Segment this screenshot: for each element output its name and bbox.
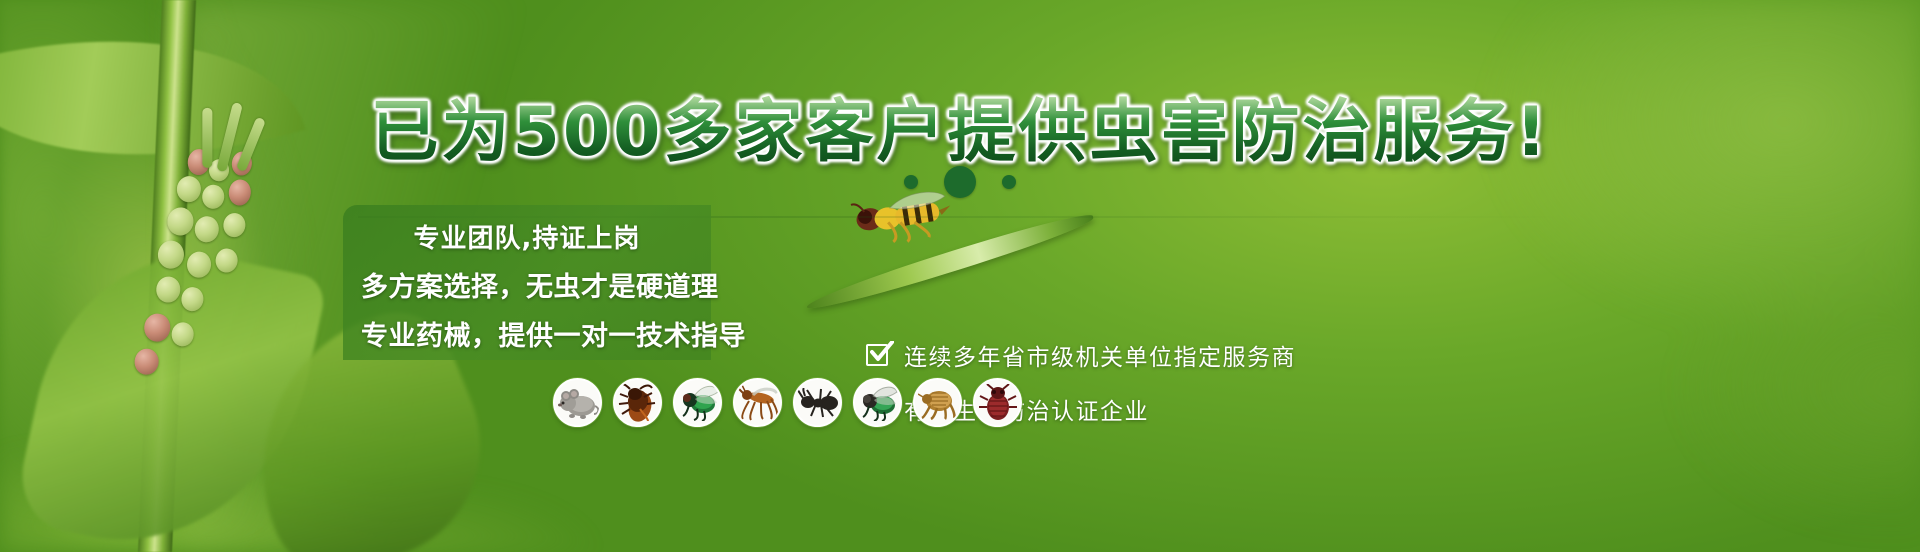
dot-small-left-icon xyxy=(904,175,918,189)
decorative-dots xyxy=(0,166,1920,198)
hoverfly-photo xyxy=(800,190,1130,330)
dot-small-right-icon xyxy=(1002,175,1016,189)
ant-icon[interactable] xyxy=(793,378,842,427)
flea-icon[interactable] xyxy=(913,378,962,427)
mouse-icon[interactable] xyxy=(553,378,602,427)
checkbox-checked-icon xyxy=(866,342,892,368)
pest-icon-row xyxy=(553,378,1022,427)
feature-label: 连续多年省市级机关单位指定服务商 xyxy=(904,338,1296,372)
housefly-icon[interactable] xyxy=(853,378,902,427)
mosquito-icon[interactable] xyxy=(733,378,782,427)
slogan-line-3: 专业药械，提供一对一技术指导 xyxy=(361,314,693,353)
green-fly-icon[interactable] xyxy=(673,378,722,427)
bedbug-icon[interactable] xyxy=(973,378,1022,427)
slogan-box: 专业团队,持证上岗 多方案选择，无虫才是硬道理 专业药械，提供一对一技术指导 xyxy=(343,205,711,360)
dot-large-center-icon xyxy=(944,166,976,198)
feature-item: 连续多年省市级机关单位指定服务商 xyxy=(866,338,1296,372)
slogan-line-2: 多方案选择，无虫才是硬道理 xyxy=(361,265,693,304)
pest-control-banner: 已为500多家客户提供虫害防治服务! 已为500多家客户提供虫害防治服务! 专业… xyxy=(0,0,1920,552)
cockroach-icon[interactable] xyxy=(613,378,662,427)
page-title: 已为500多家客户提供虫害防治服务! xyxy=(0,76,1920,175)
slogan-line-1: 专业团队,持证上岗 xyxy=(361,218,693,255)
